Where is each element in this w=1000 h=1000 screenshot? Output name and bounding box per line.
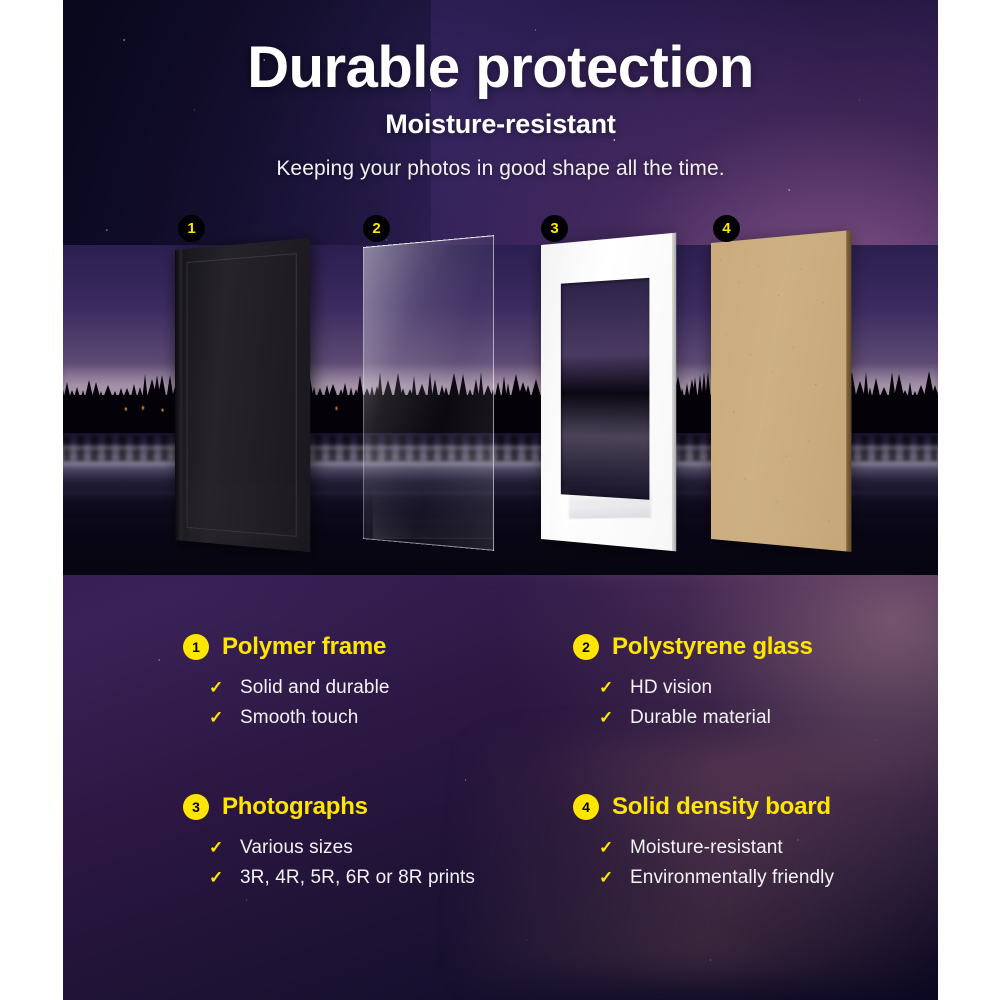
legend-heading: 3 Photographs bbox=[183, 790, 573, 824]
part-polystyrene-glass bbox=[363, 235, 494, 551]
mat-board-edge bbox=[672, 233, 676, 552]
legend-bullet-text: Durable material bbox=[630, 707, 771, 729]
legend-title-4: Solid density board bbox=[612, 793, 831, 821]
mat-board-window bbox=[561, 278, 650, 500]
part-polymer-frame bbox=[175, 238, 310, 552]
list-item: ✓ Smooth touch bbox=[209, 707, 573, 729]
legend-bullets: ✓ Solid and durable ✓ Smooth touch bbox=[183, 677, 573, 729]
list-item: ✓ Durable material bbox=[599, 707, 963, 729]
legend-bullet-text: HD vision bbox=[630, 677, 712, 699]
page-subtitle: Moisture-resistant bbox=[63, 109, 938, 140]
board-texture bbox=[711, 231, 846, 552]
check-mark-icon: ✓ bbox=[209, 679, 225, 696]
check-mark-icon: ✓ bbox=[209, 869, 225, 886]
list-item: ✓ Various sizes bbox=[209, 837, 573, 859]
check-mark-icon: ✓ bbox=[599, 839, 615, 856]
diagram-badge-3: 3 bbox=[541, 215, 568, 242]
diagram-badge-2: 2 bbox=[363, 215, 390, 242]
glass-sheen bbox=[363, 235, 494, 551]
part-solid-density-board bbox=[711, 231, 846, 552]
legend-title-3: Photographs bbox=[222, 793, 368, 821]
legend-bullet-text: Environmentally friendly bbox=[630, 867, 834, 889]
legend-badge-2: 2 bbox=[573, 634, 599, 660]
board-side-edge bbox=[846, 230, 851, 552]
list-item: ✓ 3R, 4R, 5R, 6R or 8R prints bbox=[209, 867, 573, 889]
check-mark-icon: ✓ bbox=[209, 709, 225, 726]
header-block: Durable protection Moisture-resistant Ke… bbox=[63, 0, 938, 181]
legend-item-4: 4 Solid density board ✓ Moisture-resista… bbox=[573, 790, 963, 897]
legend-badge-1: 1 bbox=[183, 634, 209, 660]
legend-heading: 4 Solid density board bbox=[573, 790, 963, 824]
legend-heading: 2 Polystyrene glass bbox=[573, 630, 963, 664]
legend-bullet-text: Solid and durable bbox=[240, 677, 390, 699]
page-title: Durable protection bbox=[63, 0, 938, 99]
list-item: ✓ HD vision bbox=[599, 677, 963, 699]
legend-bullet-text: Various sizes bbox=[240, 837, 353, 859]
list-item: ✓ Solid and durable bbox=[209, 677, 573, 699]
check-mark-icon: ✓ bbox=[599, 679, 615, 696]
check-mark-icon: ✓ bbox=[599, 869, 615, 886]
feature-legend: 1 Polymer frame ✓ Solid and durable ✓ Sm… bbox=[63, 630, 938, 940]
list-item: ✓ Environmentally friendly bbox=[599, 867, 963, 889]
legend-heading: 1 Polymer frame bbox=[183, 630, 573, 664]
part-photo-mat-board bbox=[541, 233, 672, 551]
legend-title-1: Polymer frame bbox=[222, 633, 386, 661]
frame-opening bbox=[187, 253, 297, 537]
legend-bullets: ✓ HD vision ✓ Durable material bbox=[573, 677, 963, 729]
legend-bullet-text: Moisture-resistant bbox=[630, 837, 783, 859]
legend-bullets: ✓ Moisture-resistant ✓ Environmentally f… bbox=[573, 837, 963, 889]
legend-title-2: Polystyrene glass bbox=[612, 633, 813, 661]
check-mark-icon: ✓ bbox=[599, 709, 615, 726]
legend-bullet-text: 3R, 4R, 5R, 6R or 8R prints bbox=[240, 867, 475, 889]
exploded-view-diagram: 1 2 3 4 bbox=[63, 215, 938, 615]
legend-bullets: ✓ Various sizes ✓ 3R, 4R, 5R, 6R or 8R p… bbox=[183, 837, 573, 889]
diagram-badge-1: 1 bbox=[178, 215, 205, 242]
legend-item-2: 2 Polystyrene glass ✓ HD vision ✓ Durabl… bbox=[573, 630, 963, 737]
list-item: ✓ Moisture-resistant bbox=[599, 837, 963, 859]
legend-badge-4: 4 bbox=[573, 794, 599, 820]
diagram-badge-4: 4 bbox=[713, 215, 740, 242]
check-mark-icon: ✓ bbox=[209, 839, 225, 856]
frame-side-edge bbox=[175, 249, 182, 540]
legend-item-3: 3 Photographs ✓ Various sizes ✓ 3R, 4R, … bbox=[183, 790, 573, 897]
product-infographic: Durable protection Moisture-resistant Ke… bbox=[0, 0, 1000, 1000]
legend-badge-3: 3 bbox=[183, 794, 209, 820]
page-tagline: Keeping your photos in good shape all th… bbox=[63, 157, 938, 181]
legend-bullet-text: Smooth touch bbox=[240, 707, 358, 729]
legend-item-1: 1 Polymer frame ✓ Solid and durable ✓ Sm… bbox=[183, 630, 573, 737]
